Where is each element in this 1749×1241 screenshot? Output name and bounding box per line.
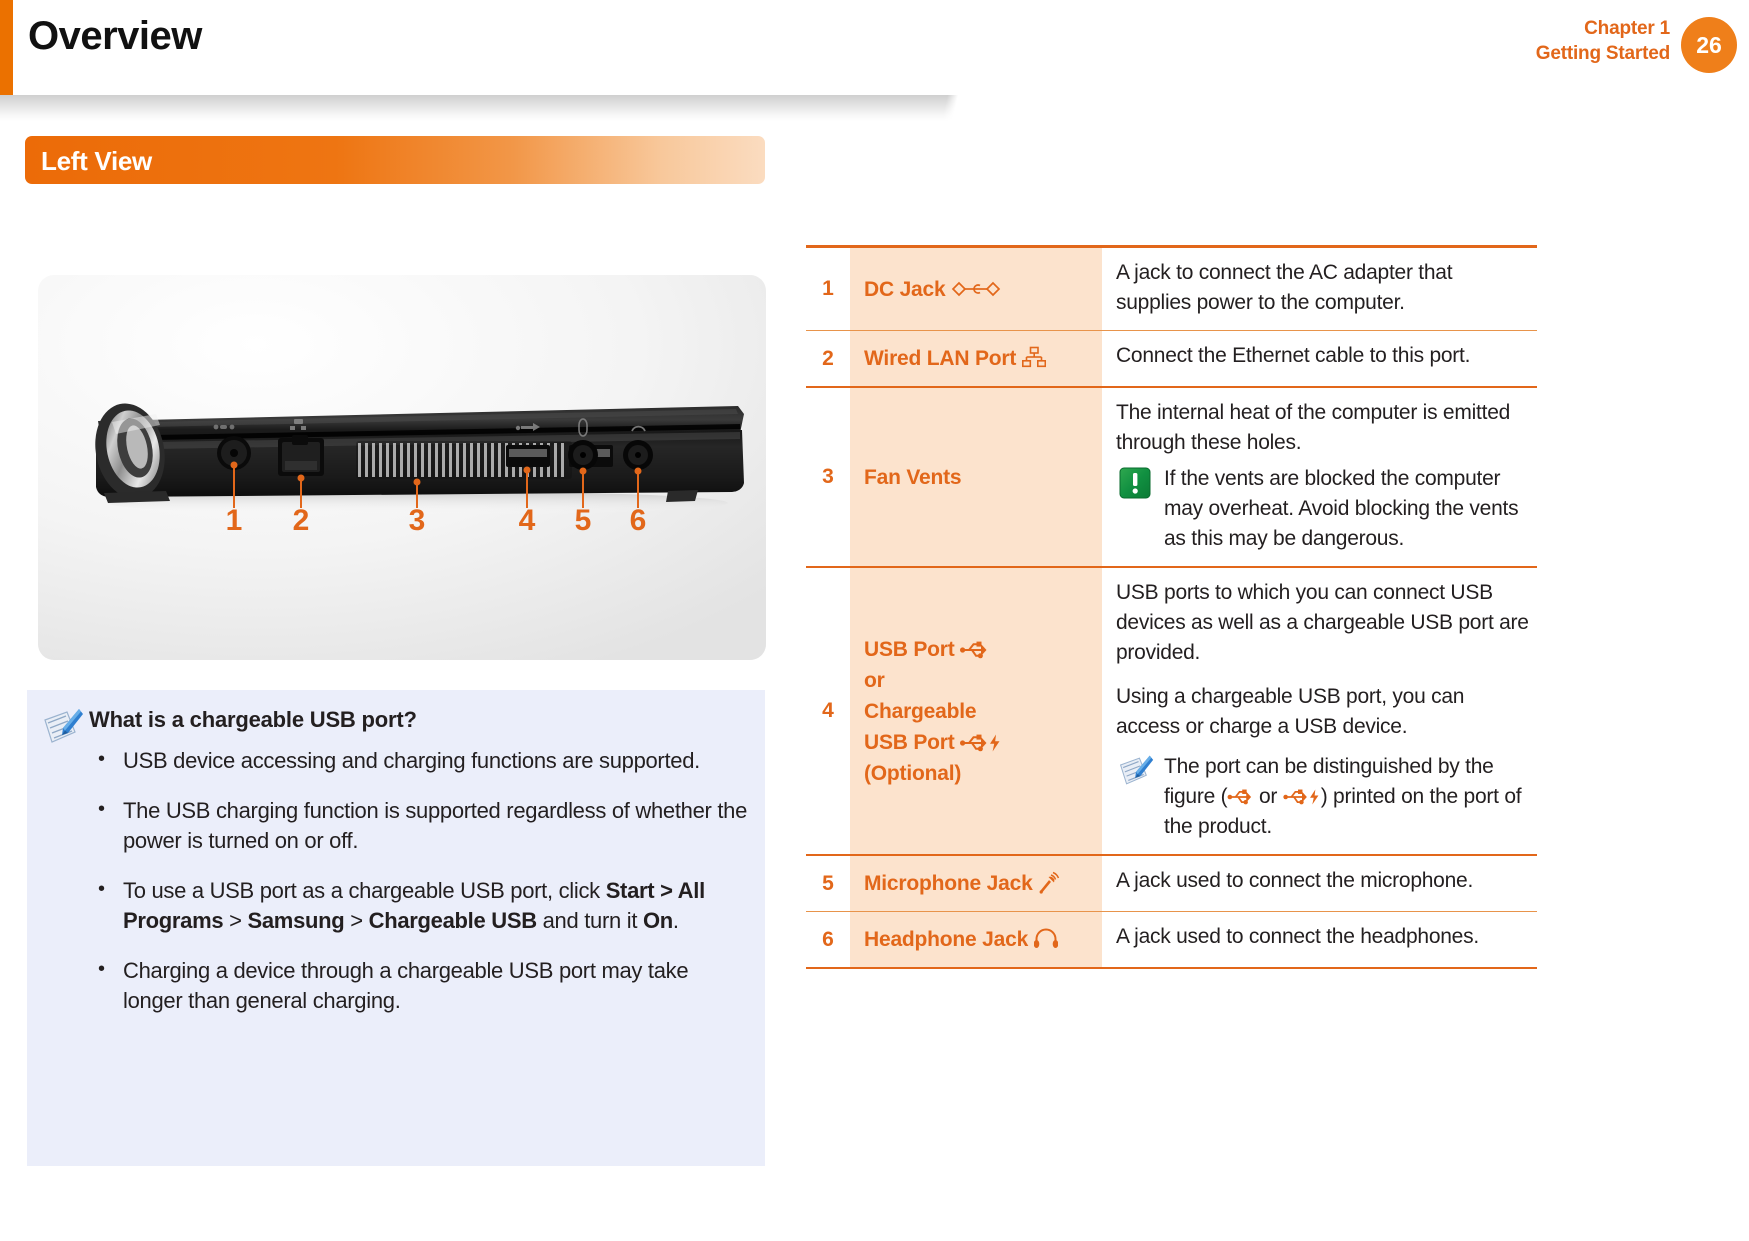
laptop-left-view-figure: 1 2 3 4 5 6 [38, 275, 766, 660]
microphone-icon [1038, 871, 1060, 895]
table-row: 3 Fan Vents The internal heat of the com… [806, 387, 1537, 567]
callout-line-5 [582, 471, 584, 508]
row-description: USB ports to which you can connect USB d… [1102, 567, 1537, 855]
usb-chargeable-icon [960, 734, 1002, 752]
usb-figure-note: The port can be distinguished by the fig… [1116, 752, 1531, 842]
note-list-item: USB device accessing and charging functi… [89, 746, 749, 776]
callout-number-2: 2 [293, 504, 310, 538]
headphone-icon [1034, 928, 1058, 950]
dc-jack-icon [951, 281, 1001, 297]
row-name: Headphone Jack [850, 912, 1102, 969]
row-name-label: Microphone Jack [864, 872, 1033, 895]
note-bullet-list: USB device accessing and charging functi… [89, 746, 749, 1036]
caution-text: If the vents are blocked the computer ma… [1164, 464, 1531, 554]
row-name: Microphone Jack [850, 855, 1102, 912]
table-row: 2 Wired LAN Port Connect the Ethernet ca… [806, 331, 1537, 388]
row-description: A jack used to connect the headphones. [1102, 912, 1537, 969]
row-name: DC Jack [850, 247, 1102, 331]
header-divider-shadow [0, 95, 1749, 121]
port-spec-table: 1 DC Jack A jack to connect the AC adapt… [806, 245, 1537, 969]
page-title: Overview [28, 16, 202, 56]
chapter-indicator: Chapter 1 Getting Started [1536, 16, 1670, 66]
row-description-text-1: USB ports to which you can connect USB d… [1116, 578, 1531, 668]
row-name-label-line5: (Optional) [864, 762, 961, 785]
page-number-badge: 26 [1681, 17, 1737, 73]
row-name-label-line3: Chargeable [864, 700, 976, 723]
row-description-text-2: Using a chargeable USB port, you can acc… [1116, 682, 1531, 742]
usb-chargeable-icon [1283, 789, 1321, 805]
callout-number-5: 5 [575, 504, 592, 538]
table-row: 1 DC Jack A jack to connect the AC adapt… [806, 247, 1537, 331]
note-list-item: Charging a device through a chargeable U… [89, 956, 749, 1016]
note-pen-icon [1116, 753, 1156, 789]
row-name-label: DC Jack [864, 278, 945, 301]
usb-icon [960, 641, 988, 659]
note-list-item: To use a USB port as a chargeable USB po… [89, 876, 749, 936]
laptop-side-photo [38, 275, 766, 660]
table-row: 5 Microphone Jack A jack used to connect… [806, 855, 1537, 912]
row-description: A jack to connect the AC adapter that su… [1102, 247, 1537, 331]
row-name-label: Wired LAN Port [864, 347, 1016, 370]
note-pen-icon [41, 706, 85, 748]
row-name-label-line1: USB Port [864, 638, 955, 661]
row-number: 3 [806, 387, 850, 567]
rule-cell [806, 968, 850, 969]
row-name: Fan Vents [850, 387, 1102, 567]
table-row: 4 USB Port or Chargeable USB Port [806, 567, 1537, 855]
row-description-text: The internal heat of the computer is emi… [1116, 398, 1531, 458]
row-name: USB Port or Chargeable USB Port [850, 567, 1102, 855]
row-number: 4 [806, 567, 850, 855]
row-name: Wired LAN Port [850, 331, 1102, 388]
table-bottom-rule [806, 968, 1537, 969]
table-row: 6 Headphone Jack A jack used to connect … [806, 912, 1537, 969]
note-text-part2: or [1253, 785, 1282, 808]
usb-figure-note-text: The port can be distinguished by the fig… [1164, 752, 1531, 842]
usb-icon [1227, 789, 1253, 805]
row-description: A jack used to connect the microphone. [1102, 855, 1537, 912]
rule-cell [850, 968, 1102, 969]
row-name-label: Fan Vents [864, 466, 961, 489]
caution-icon [1118, 466, 1152, 500]
row-number: 1 [806, 247, 850, 331]
callout-line-1 [233, 465, 235, 508]
header-accent-bar [0, 0, 13, 95]
caution-note: If the vents are blocked the computer ma… [1116, 464, 1531, 554]
chapter-name: Getting Started [1536, 41, 1670, 66]
lan-port-icon [1022, 346, 1046, 370]
row-number: 6 [806, 912, 850, 969]
row-number: 2 [806, 331, 850, 388]
callout-line-4 [526, 470, 528, 508]
section-heading-bar: Left View [25, 136, 765, 184]
row-number: 5 [806, 855, 850, 912]
note-title: What is a chargeable USB port? [89, 707, 417, 733]
row-description: The internal heat of the computer is emi… [1102, 387, 1537, 567]
note-list-item: The USB charging function is supported r… [89, 796, 749, 856]
row-name-label: Headphone Jack [864, 928, 1028, 951]
chapter-number: Chapter 1 [1536, 16, 1670, 41]
section-heading-label: Left View [41, 146, 152, 177]
callout-number-6: 6 [630, 504, 647, 538]
row-name-label-line2: or [864, 669, 885, 692]
row-description: Connect the Ethernet cable to this port. [1102, 331, 1537, 388]
rule-cell [1102, 968, 1537, 969]
chargeable-usb-note-box: What is a chargeable USB port? USB devic… [27, 690, 765, 1166]
callout-number-3: 3 [409, 504, 426, 538]
callout-line-6 [637, 471, 639, 508]
row-name-label-line4: USB Port [864, 731, 955, 754]
page-header: Overview Chapter 1 Getting Started 26 [0, 0, 1749, 96]
callout-number-1: 1 [226, 504, 243, 538]
callout-number-4: 4 [519, 504, 536, 538]
